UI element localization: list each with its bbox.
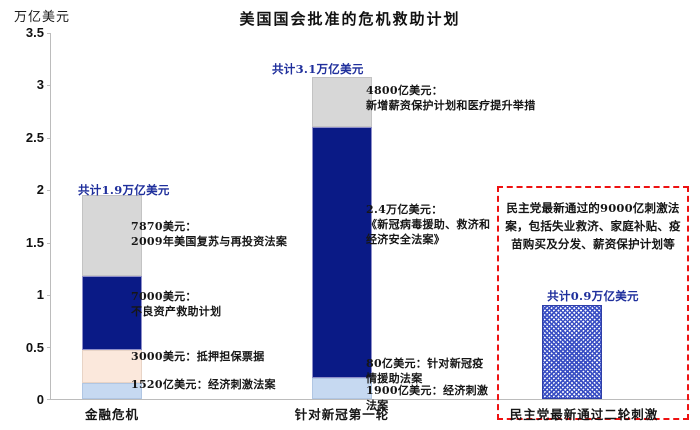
y-tick-label-2: 2: [4, 182, 44, 197]
callout-body-text: 民主党最新通过的9000亿刺激法案，包括失业救济、家庭补贴、疫苗购买及分发、薪资…: [505, 200, 681, 253]
y-tick-0: [47, 399, 51, 400]
bar2-covid-relief-annotation: 80亿美元：针对新冠疫 情援助法案: [366, 357, 484, 387]
y-tick-label-2-5: 2.5: [4, 130, 44, 145]
y-tick-3: [47, 85, 51, 86]
y-tick-1: [47, 295, 51, 296]
y-tick-1-5: [47, 243, 51, 244]
bar2-segment-ppp-health[interactable]: [312, 77, 372, 127]
y-tick-3-5: [47, 33, 51, 34]
x-axis-label-financial-crisis: 金融危机: [85, 404, 139, 423]
y-tick-label-1-5: 1.5: [4, 235, 44, 250]
x-axis-label-democrat-stimulus: 民主党最新通过二轮刺激: [510, 404, 659, 423]
y-tick-2-5: [47, 138, 51, 139]
bar1-navy-annotation: 7000美元： 不良资产救助计划: [131, 290, 221, 320]
y-tick-2: [47, 190, 51, 191]
y-tick-label-3-5: 3.5: [4, 25, 44, 40]
bar1-gray-annotation: 7870美元： 2009年美国复苏与再投资法案: [131, 220, 287, 250]
bar2-segment-stimulus[interactable]: [312, 378, 372, 399]
bar1-peach-annotation: 3000美元：抵押担保票据: [131, 350, 265, 365]
chart-root: 万亿美元 美国国会批准的危机救助计划 3.5 3 2.5 2 1.5 1 0.5…: [0, 0, 700, 430]
y-axis-line: [50, 33, 51, 400]
y-tick-label-1: 1: [4, 287, 44, 302]
y-tick-label-0-5: 0.5: [4, 340, 44, 355]
callout-total-text: 共计0.9万亿美元: [505, 288, 681, 304]
chart-title: 美国国会批准的危机救助计划: [0, 8, 700, 29]
bar2-segment-cares-act[interactable]: [312, 127, 372, 378]
bar1-total-annotation: 共计1.9万亿美元: [78, 183, 170, 199]
bar1-ltblue-annotation: 1520亿美元：经济刺激法案: [131, 378, 276, 393]
x-axis-label-covid-round-one: 针对新冠第一轮: [295, 404, 390, 423]
bar2-gray-annotation: 4800亿美元： 新增薪资保护计划和医疗提升举措: [366, 84, 536, 114]
y-tick-label-0: 0: [4, 392, 44, 407]
bar-covid-round-one[interactable]: [312, 77, 372, 399]
bar2-navy-annotation: 2.4万亿美元： 《新冠病毒援助、救济和 经济安全法案》: [366, 203, 490, 248]
y-tick-label-3: 3: [4, 77, 44, 92]
y-tick-0-5: [47, 347, 51, 348]
bar2-total-annotation: 共计3.1万亿美元: [272, 62, 364, 78]
